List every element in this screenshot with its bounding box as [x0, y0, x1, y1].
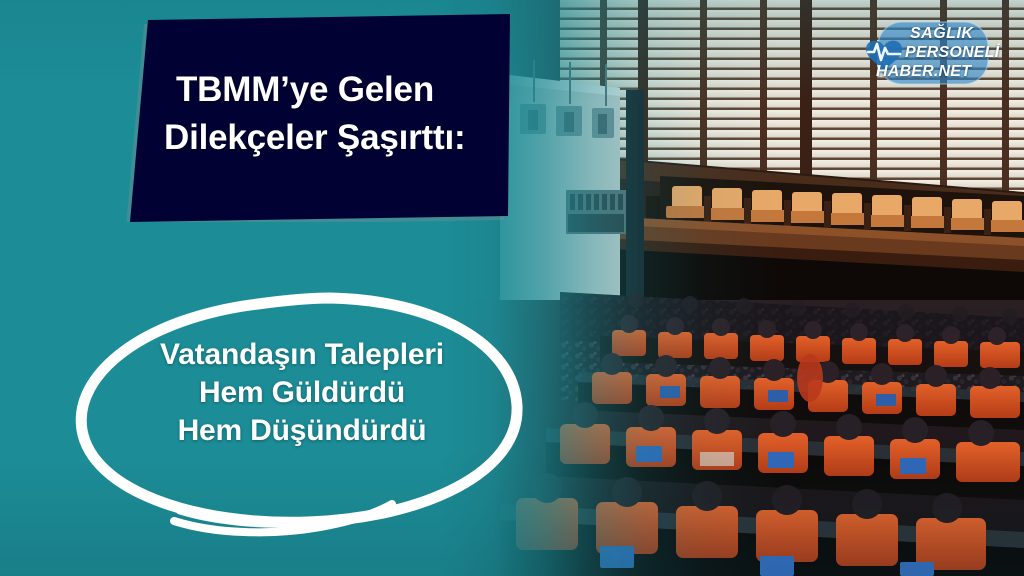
logo-text: SAĞLIK PERSONELİ HABER.NET — [862, 18, 990, 88]
site-logo[interactable]: SAĞLIK PERSONELİ HABER.NET — [862, 18, 990, 88]
headline-line-1: TBMM’ye Gelen — [176, 70, 434, 109]
accent-figure — [797, 354, 823, 402]
news-banner-graphic: TBMM’ye Gelen Dilekçeler Şaşırttı: Vatan… — [0, 0, 1024, 576]
headline-line-2: Dilekçeler Şaşırttı: — [164, 114, 506, 162]
callout-line-3: Hem Düşündürdü — [62, 412, 542, 450]
logo-line-1: SAĞLIK — [910, 26, 990, 42]
logo-line-3: HABER.NET — [876, 64, 990, 80]
headline-text: TBMM’ye Gelen Dilekçeler Şaşırttı: — [176, 66, 506, 161]
callout-text: Vatandaşın Talepleri Hem Güldürdü Hem Dü… — [62, 336, 542, 450]
headline-banner: TBMM’ye Gelen Dilekçeler Şaşırttı: — [118, 14, 512, 222]
oval-callout: Vatandaşın Talepleri Hem Güldürdü Hem Dü… — [62, 282, 542, 546]
callout-line-2: Hem Güldürdü — [62, 374, 542, 412]
callout-line-1: Vatandaşın Talepleri — [62, 336, 542, 374]
logo-line-2: PERSONELİ — [905, 45, 990, 61]
